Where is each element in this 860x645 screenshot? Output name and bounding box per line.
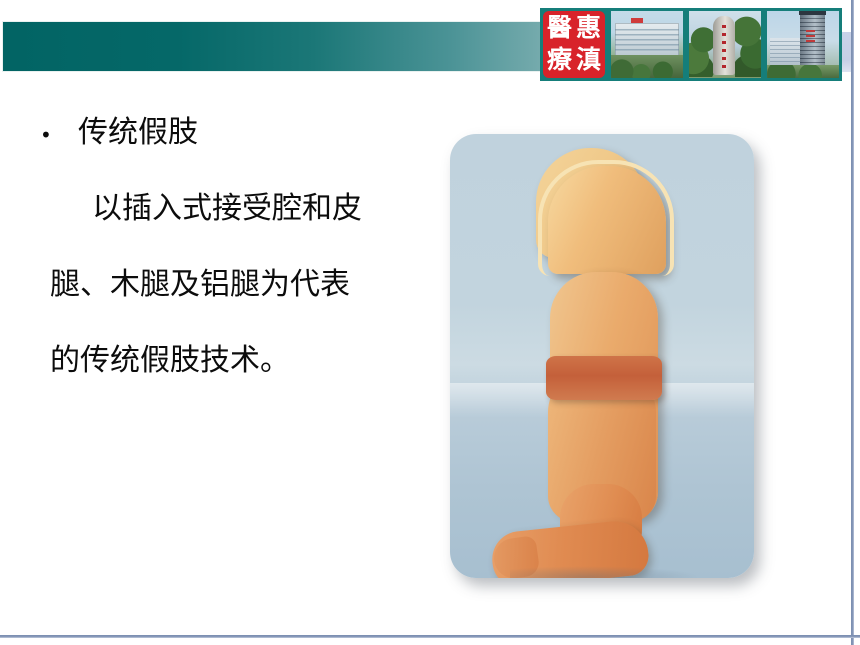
- body-line-4: 的传统假肢技术。: [40, 346, 440, 376]
- modern-tower-image: [767, 11, 839, 78]
- monument-foliage-left: [689, 15, 715, 77]
- hospital-building-image: [611, 11, 683, 78]
- seal-char-2: 惠: [576, 16, 601, 41]
- slide: 醫 惠 療 滇: [0, 0, 860, 645]
- body-line-3: 腿、木腿及铝腿为代表: [40, 270, 440, 300]
- tower-signage: [806, 30, 815, 45]
- leg-thigh-cuff: [546, 356, 662, 400]
- leg-socket-rim: [538, 160, 674, 276]
- huidian-medical-logo: 醫 惠 療 滇: [540, 8, 843, 81]
- prosthetic-leg-illustration: [450, 134, 754, 578]
- prosthetic-leg-photo: [450, 134, 754, 578]
- header-band-gradient: [3, 22, 624, 71]
- seal-char-1: 醫: [547, 16, 572, 41]
- seal-char-3: 療: [547, 48, 572, 73]
- bullet-line-text: 传统假肢: [78, 118, 198, 148]
- modern-tower-photo: [764, 8, 842, 81]
- stone-monument-image: [689, 11, 761, 78]
- logo-seal: 醫 惠 療 滇: [540, 8, 608, 81]
- header-band: [2, 21, 625, 72]
- monument-foliage-right: [735, 12, 761, 76]
- tower-foliage: [767, 65, 839, 78]
- bullet-icon: •: [40, 125, 78, 145]
- tower-cap: [799, 11, 826, 15]
- stone-monument-photo: [686, 8, 764, 81]
- hospital-foliage: [611, 55, 683, 78]
- slide-frame-right: [851, 0, 854, 645]
- bullet-line: • 传统假肢: [40, 118, 440, 148]
- slide-body-text: • 传统假肢 以插入式接受腔和皮 腿、木腿及铝腿为代表 的传统假肢技术。: [40, 118, 440, 376]
- seal-char-4: 滇: [576, 48, 601, 73]
- slide-frame-bottom: [0, 635, 860, 638]
- leg-ground-shadow: [510, 566, 700, 578]
- monument-stone: [713, 16, 735, 75]
- body-line-2: 以插入式接受腔和皮: [40, 194, 440, 224]
- logo-seal-inner: 醫 惠 療 滇: [543, 11, 605, 78]
- hospital-building-photo: [608, 8, 686, 81]
- hospital-facade: [615, 23, 678, 58]
